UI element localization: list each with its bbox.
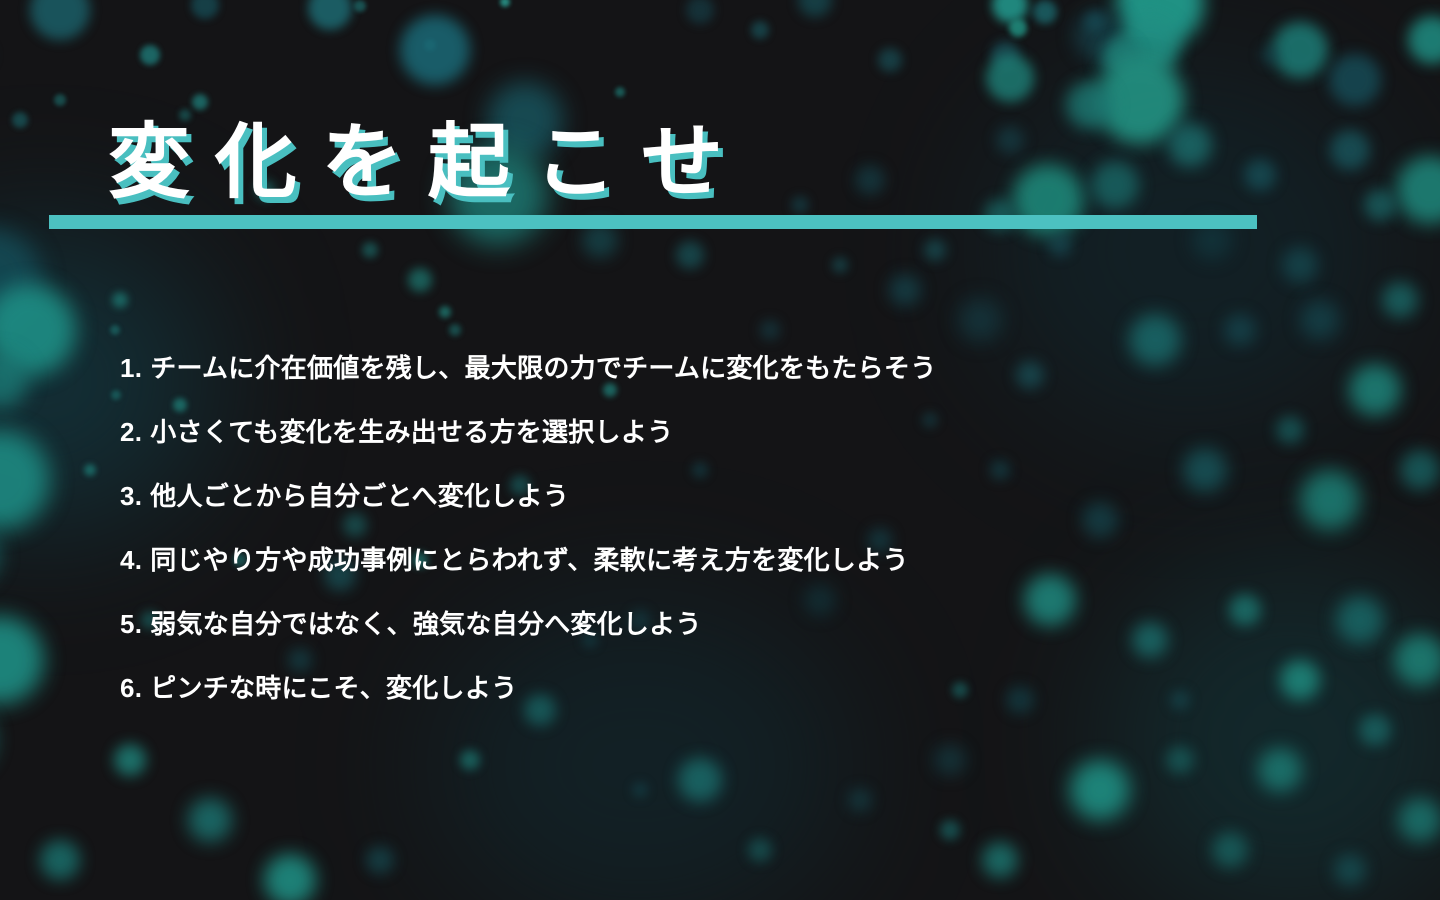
bokeh-circle — [1009, 19, 1027, 37]
bokeh-circle — [449, 324, 461, 336]
bokeh-circle — [54, 94, 66, 106]
bokeh-circle — [0, 616, 44, 704]
bokeh-circle — [632, 782, 648, 798]
bokeh-circle — [114, 744, 146, 776]
list-item-text: 同じやり方や成功事例にとらわれず、柔軟に考え方を変化しよう — [150, 540, 908, 577]
bokeh-circle — [1282, 247, 1318, 283]
bokeh-circle — [362, 242, 378, 258]
slide-canvas: 変化を起こせ 1.チームに介在価値を残し、最大限の力でチームに変化をもたらそう2… — [0, 0, 1440, 900]
bokeh-circle — [1224, 314, 1256, 346]
principles-list: 1.チームに介在価値を残し、最大限の力でチームに変化をもたらそう2.小さくても変… — [120, 348, 1380, 732]
bokeh-circle — [408, 268, 432, 292]
bokeh-circle — [1408, 16, 1440, 64]
bokeh-circle — [1258, 748, 1302, 792]
bokeh-circle — [1066, 81, 1114, 129]
bokeh-circle — [1244, 159, 1276, 191]
bokeh-circle — [1070, 760, 1130, 820]
bokeh-circle — [940, 820, 960, 840]
list-item-text: ピンチな時にこそ、変化しよう — [150, 668, 517, 705]
list-item-text: チームに介在価値を残し、最大限の力でチームに変化をもたらそう — [150, 348, 936, 385]
bokeh-circle — [686, 0, 714, 24]
bokeh-circle — [1394, 634, 1440, 686]
bokeh-circle — [1330, 130, 1370, 170]
bokeh-circle — [1300, 300, 1340, 340]
list-item-text: 弱気な自分ではなく、強気な自分へ変化しよう — [150, 604, 701, 641]
list-item-number: 2. — [120, 417, 142, 448]
bokeh-circle — [1260, 45, 1280, 65]
bokeh-circle — [1091, 161, 1139, 209]
bokeh-circle — [110, 325, 120, 335]
bokeh-circle — [848, 788, 872, 812]
bokeh-circle — [1033, 0, 1057, 24]
bokeh-circle — [615, 87, 625, 97]
bokeh-circle — [264, 854, 316, 900]
bokeh-circle — [924, 239, 946, 261]
list-item: 4.同じやり方や成功事例にとらわれず、柔軟に考え方を変化しよう — [120, 540, 1380, 604]
bokeh-circle — [30, 0, 90, 40]
bokeh-circle — [889, 274, 921, 306]
bokeh-circle — [1396, 156, 1440, 224]
bokeh-circle — [934, 744, 966, 776]
bokeh-circle — [798, 0, 832, 17]
bokeh-circle — [791, 196, 809, 214]
bokeh-circle — [354, 0, 366, 12]
bokeh-circle — [439, 306, 451, 318]
bokeh-circle — [112, 292, 128, 308]
bokeh-circle — [1212, 832, 1248, 868]
bokeh-circle — [1382, 282, 1418, 318]
list-item-text: 他人ごとから自分ごとへ変化しよう — [150, 476, 569, 513]
bokeh-circle — [760, 320, 780, 340]
bokeh-circle — [982, 842, 1018, 878]
bokeh-circle — [1364, 189, 1396, 221]
bokeh-circle — [751, 21, 769, 39]
bokeh-circle — [855, 165, 885, 195]
list-item: 3.他人ごとから自分ごとへ変化しよう — [120, 476, 1380, 540]
list-item-number: 6. — [120, 673, 142, 704]
bokeh-circle — [1272, 22, 1328, 78]
bokeh-circle — [140, 45, 160, 65]
bokeh-circle — [1168, 123, 1212, 167]
bokeh-circle — [366, 846, 394, 874]
title-underline-bar — [49, 215, 1257, 229]
bokeh-circle — [1048, 233, 1072, 257]
bokeh-circle — [84, 464, 96, 476]
bokeh-circle — [1329, 54, 1381, 106]
bokeh-circle — [878, 48, 902, 72]
bokeh-circle — [1400, 450, 1440, 490]
page-title: 変化を起こせ — [108, 122, 748, 204]
bokeh-circle — [40, 840, 80, 880]
bokeh-circle — [1334, 854, 1366, 886]
bokeh-circle — [500, 0, 510, 7]
bokeh-circle — [748, 838, 772, 862]
bokeh-circle — [12, 112, 28, 128]
bokeh-circle — [1398, 798, 1440, 842]
bokeh-circle — [996, 126, 1024, 154]
list-item-text: 小さくても変化を生み出せる方を選択しよう — [150, 412, 673, 449]
bokeh-circle — [191, 0, 219, 19]
list-item: 5.弱気な自分ではなく、強気な自分へ変化しよう — [120, 604, 1380, 668]
list-item: 1.チームに介在価値を残し、最大限の力でチームに変化をもたらそう — [120, 348, 1380, 412]
list-item: 6.ピンチな時にこそ、変化しよう — [120, 668, 1380, 732]
bokeh-circle — [400, 15, 470, 85]
bokeh-circle — [460, 750, 480, 770]
bokeh-circle — [188, 798, 232, 842]
bokeh-circle — [832, 257, 848, 273]
list-item-number: 4. — [120, 545, 142, 576]
list-item: 2.小さくても変化を生み出せる方を選択しよう — [120, 412, 1380, 476]
bokeh-circle — [986, 54, 1034, 102]
bokeh-circle — [1166, 746, 1194, 774]
bokeh-circle — [676, 241, 704, 269]
bokeh-circle — [192, 94, 208, 110]
list-item-number: 5. — [120, 609, 142, 640]
list-item-number: 3. — [120, 481, 142, 512]
bokeh-circle — [678, 758, 722, 802]
bokeh-circle — [308, 0, 352, 30]
list-item-number: 1. — [120, 353, 142, 384]
bokeh-circle — [958, 298, 1002, 342]
